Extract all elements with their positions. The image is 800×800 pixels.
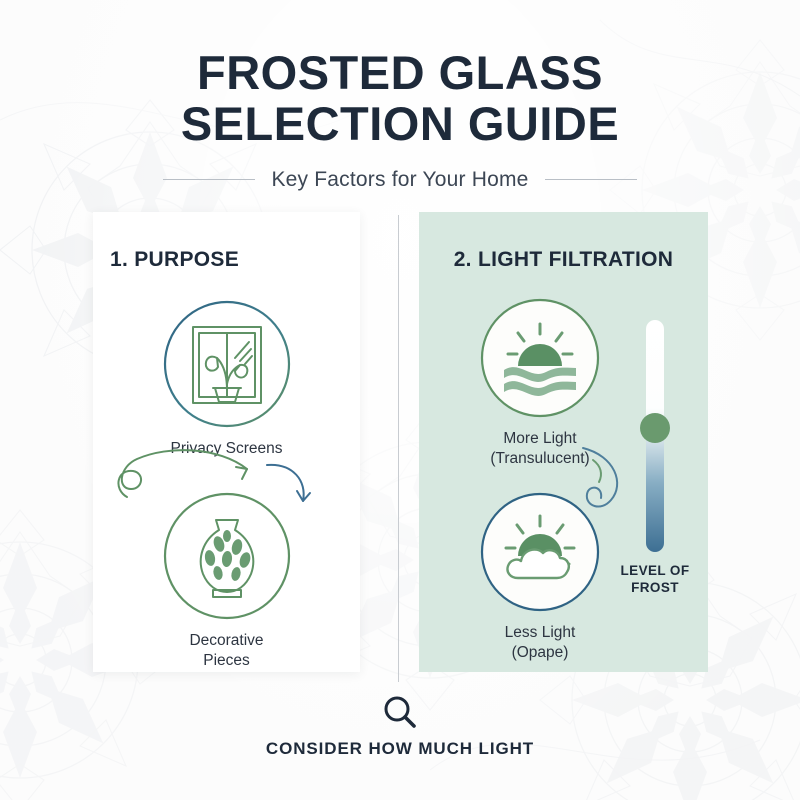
card-purpose: 1. PURPOSE (93, 212, 360, 672)
magnifier-icon (381, 694, 419, 732)
item-decorative-pieces-caption: Decorative Pieces (93, 631, 360, 670)
decorative-vase-icon (161, 490, 293, 622)
sun-cloud-icon (478, 490, 602, 614)
page-title: FROSTED GLASS SELECTION GUIDE (0, 48, 800, 150)
item-less-light-caption: Less Light (Opape) (445, 623, 635, 662)
page-title-line-1: FROSTED GLASS (0, 48, 800, 99)
frost-slider-thumb[interactable] (640, 413, 670, 443)
footer-label: CONSIDER HOW MUCH LIGHT (0, 739, 800, 759)
level-of-frost-label: LEVEL OF FROST (600, 563, 710, 597)
item-privacy-screens[interactable]: Privacy Screens (93, 298, 360, 459)
header: FROSTED GLASS SELECTION GUIDE Key Factor… (0, 0, 800, 192)
subtitle-rule-right (545, 179, 637, 180)
sun-waves-icon (478, 296, 602, 420)
card-purpose-title: 1. PURPOSE (93, 248, 360, 272)
subtitle-row: Key Factors for Your Home (0, 168, 800, 192)
item-more-light[interactable]: More Light (Transulucent) (445, 296, 635, 468)
subtitle-rule-left (163, 179, 255, 180)
window-plant-icon (161, 298, 293, 430)
item-decorative-pieces[interactable]: Decorative Pieces (93, 490, 360, 670)
card-light-filtration-title: 2. LIGHT FILTRATION (419, 248, 708, 272)
page-title-line-2: SELECTION GUIDE (0, 99, 800, 150)
page-subtitle: Key Factors for Your Home (271, 168, 528, 192)
level-of-frost-slider[interactable] (636, 318, 674, 568)
footer: CONSIDER HOW MUCH LIGHT (0, 694, 800, 759)
column-divider (398, 215, 399, 682)
